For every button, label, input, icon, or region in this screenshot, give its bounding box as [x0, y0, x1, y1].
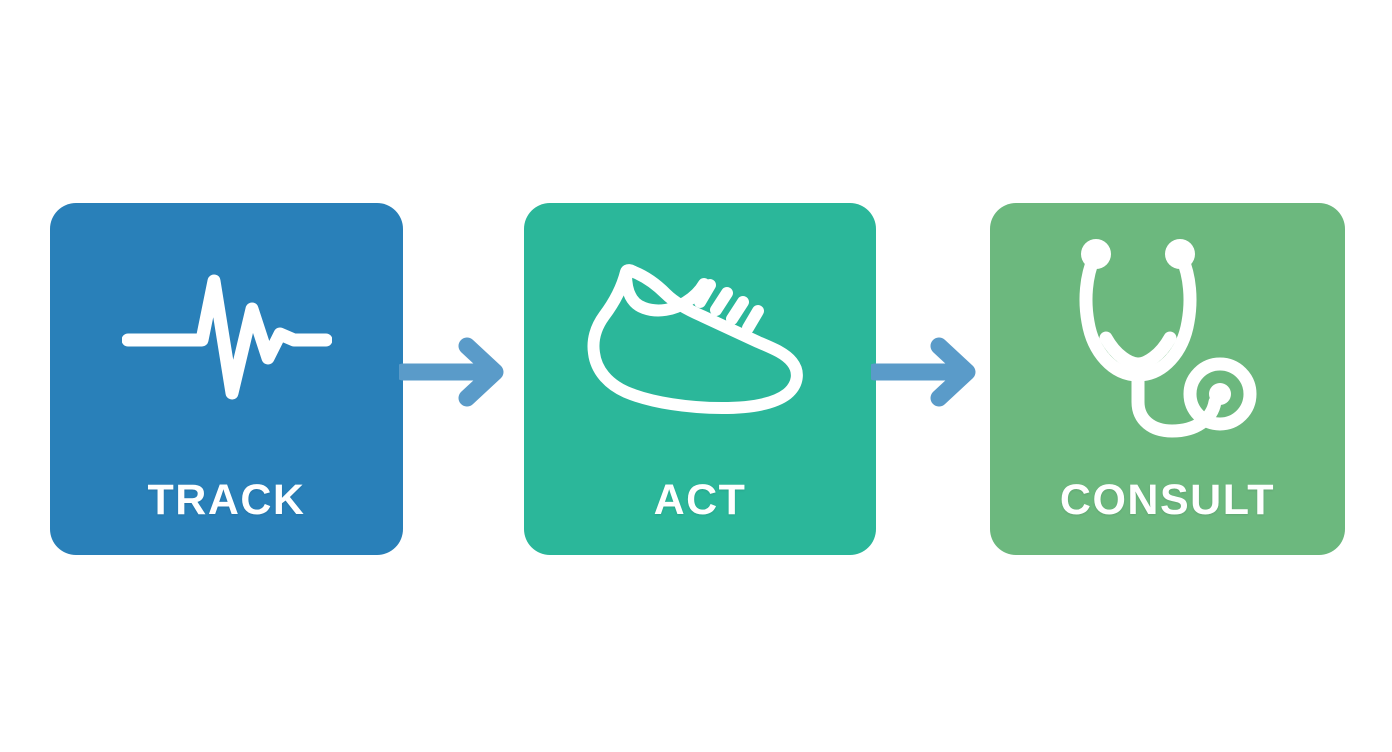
diagram-canvas: TRACK ACT	[0, 0, 1392, 752]
step-label-consult: CONSULT	[990, 475, 1345, 525]
stethoscope-diaphragm-center	[1209, 383, 1231, 405]
step-label-act: ACT	[524, 475, 876, 525]
stethoscope-eartip-left	[1081, 239, 1111, 269]
running-shoe-icon	[524, 203, 876, 471]
arrow-right-icon-track-to-act	[399, 336, 511, 408]
step-card-consult[interactable]: CONSULT	[990, 203, 1345, 555]
heartbeat-ecg-icon	[50, 203, 403, 471]
step-label-track: TRACK	[50, 475, 403, 525]
stethoscope-eartip-right	[1165, 239, 1195, 269]
step-card-track[interactable]: TRACK	[50, 203, 403, 555]
step-card-act[interactable]: ACT	[524, 203, 876, 555]
stethoscope-icon	[990, 203, 1345, 471]
arrow-right-icon-act-to-consult	[871, 336, 983, 408]
